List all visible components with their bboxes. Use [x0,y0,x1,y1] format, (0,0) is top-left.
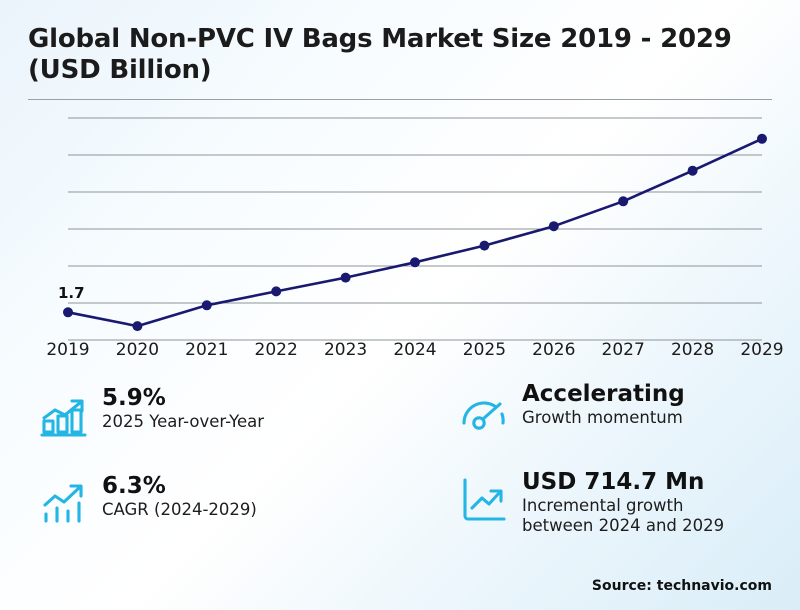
stat-description: Incremental growth between 2024 and 2029 [522,496,724,536]
series-line [68,139,762,326]
stat-value: 6.3% [102,474,257,500]
title-divider [28,99,772,100]
stat-description: Growth momentum [522,408,685,428]
data-point [618,196,628,206]
stat-text: 5.9% 2025 Year-over-Year [102,386,264,432]
data-point [341,273,351,283]
x-axis-tick-2020: 2020 [107,340,167,360]
bar-chart-growth-icon [38,390,90,442]
series-markers [63,134,767,331]
stat-card-incremental: USD 714.7 Mn Incremental growth between … [458,470,724,536]
speedometer-icon [458,386,510,438]
data-point [479,241,489,251]
x-axis-tick-2028: 2028 [663,340,723,360]
data-point [202,300,212,310]
page-title: Global Non-PVC IV Bags Market Size 2019 … [28,24,768,85]
stat-card-yoy: 5.9% 2025 Year-over-Year [38,386,264,442]
stat-text: USD 714.7 Mn Incremental growth between … [522,470,724,536]
data-point [132,321,142,331]
x-axis-tick-2023: 2023 [316,340,376,360]
chart-canvas [0,104,800,369]
stat-card-momentum: Accelerating Growth momentum [458,382,685,438]
stat-value: Accelerating [522,382,685,408]
chart-arrow-up-icon [458,474,510,526]
chart-gridlines [68,118,762,340]
line-chart: 2019202020212022202320242025202620272028… [0,104,800,369]
x-axis-tick-2027: 2027 [593,340,653,360]
x-axis-tick-2029: 2029 [732,340,792,360]
x-axis-labels: 2019202020212022202320242025202620272028… [0,340,800,368]
source-attribution: Source: technavio.com [592,578,772,594]
data-point [410,257,420,267]
stat-text: 6.3% CAGR (2024-2029) [102,474,257,520]
x-axis-tick-2019: 2019 [38,340,98,360]
data-label-2019: 1.7 [58,284,85,302]
x-axis-tick-2026: 2026 [524,340,584,360]
x-axis-tick-2024: 2024 [385,340,445,360]
stat-value: 5.9% [102,386,264,412]
stat-description: CAGR (2024-2029) [102,500,257,520]
trending-up-bars-icon [38,478,90,530]
infographic-page: Global Non-PVC IV Bags Market Size 2019 … [0,0,800,610]
stats-grid: 5.9% 2025 Year-over-Year 6.3% CAGR (2024… [0,380,800,565]
x-axis-tick-2022: 2022 [246,340,306,360]
x-axis-tick-2025: 2025 [454,340,514,360]
stat-text: Accelerating Growth momentum [522,382,685,428]
x-axis-tick-2021: 2021 [177,340,237,360]
data-point [549,221,559,231]
data-point [688,166,698,176]
stat-card-cagr: 6.3% CAGR (2024-2029) [38,474,257,530]
data-point [271,286,281,296]
data-point [63,307,73,317]
data-point [757,134,767,144]
stat-description: 2025 Year-over-Year [102,412,264,432]
stat-value: USD 714.7 Mn [522,470,724,496]
